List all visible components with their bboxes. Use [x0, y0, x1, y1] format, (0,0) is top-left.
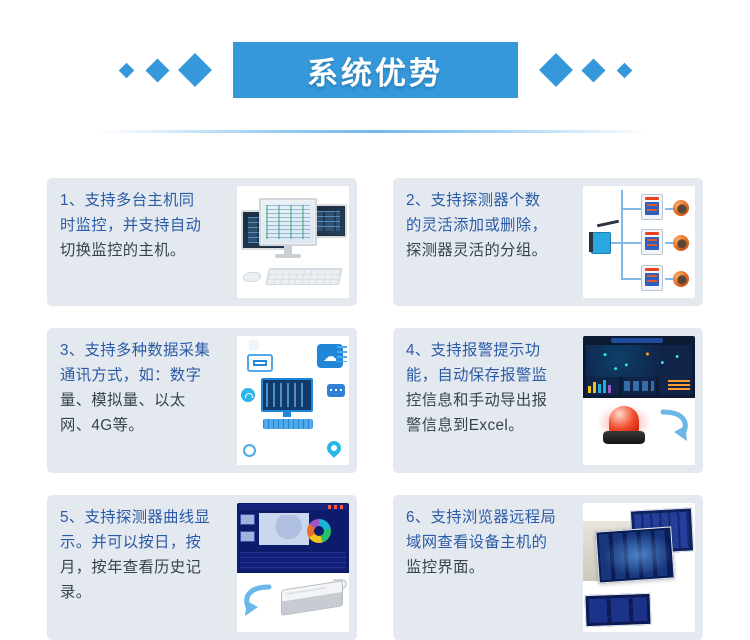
- advantage-line: 录。: [60, 580, 233, 605]
- alarm-beacon-icon: [609, 406, 639, 433]
- wire: [621, 242, 643, 244]
- remote-browser-screens-image: [583, 503, 695, 632]
- detector-network-diagram-image: [583, 186, 695, 298]
- advantage-text-3: 3、支持多种数据采集 通讯方式，如：数字 量、模拟量、以太 网、4G等。: [47, 328, 233, 473]
- advantage-line: 控信息和手动导出报: [406, 388, 579, 413]
- location-pin-icon: [324, 438, 344, 458]
- wire: [611, 242, 623, 244]
- alarm-dashboard: [583, 336, 695, 398]
- chat-bubble-icon: [327, 384, 345, 397]
- history-dashboard-harddrive-image: [237, 503, 349, 632]
- curved-arrow-icon: [239, 583, 275, 619]
- keyboard-icon: [265, 268, 343, 285]
- alarm-beacon-base: [603, 431, 645, 444]
- bar-chart-pane: [586, 377, 619, 395]
- advantage-line: 4、支持报警提示功: [406, 338, 579, 363]
- wire: [621, 208, 643, 210]
- advantage-line: 域网查看设备主机的: [406, 530, 579, 555]
- diamond-icon: [581, 58, 605, 82]
- gas-detector-icon: [673, 235, 689, 251]
- advantage-line: 月，按年查看历史记: [60, 555, 233, 580]
- controller-icon: [641, 194, 663, 220]
- page-header: 系统优势: [0, 30, 750, 110]
- antenna-icon: [597, 220, 619, 228]
- diamond-icon: [539, 53, 573, 87]
- monitor-base: [275, 254, 301, 258]
- advantage-line: 5、支持探测器曲线显: [60, 505, 233, 530]
- header-divider: [100, 130, 650, 133]
- advantage-line: 示。并可以按日，按: [60, 530, 233, 555]
- advantage-line: 1、支持多台主机同: [60, 188, 233, 213]
- advantage-line: 3、支持多种数据采集: [60, 338, 233, 363]
- orange-bars-pane: [659, 377, 692, 395]
- hard-drive-icon: [281, 580, 343, 616]
- monitor-icon: [261, 378, 313, 412]
- gas-detector-icon: [673, 271, 689, 287]
- monitor-icon: [259, 198, 317, 246]
- left-diamond-decoration: [121, 58, 207, 82]
- advantage-line: 量、模拟量、以太: [60, 388, 233, 413]
- advantage-text-4: 4、支持报警提示功 能，自动保存报警监 控信息和手动导出报 警信息到Excel。: [393, 328, 579, 473]
- gas-detector-icon: [673, 200, 689, 216]
- page-title-banner: 系统优势: [233, 42, 518, 98]
- wire: [621, 278, 643, 280]
- gear-icon: [243, 444, 256, 457]
- curved-arrow-icon: [657, 408, 693, 444]
- advantage-line: 警信息到Excel。: [406, 413, 579, 438]
- table-pane: [622, 377, 655, 395]
- advantages-grid: 1、支持多台主机同 时监控，并支持自动 切换监控的主机。 2、支持探测器个数 的…: [0, 178, 750, 640]
- advantage-card-2: 2、支持探测器个数 的灵活添加或删除， 探测器灵活的分组。: [393, 178, 703, 306]
- history-dashboard: [237, 503, 349, 573]
- advantage-line: 通讯方式，如：数字: [60, 363, 233, 388]
- diamond-icon: [145, 58, 169, 82]
- mouse-icon: [242, 272, 262, 282]
- advantage-line: 的灵活添加或删除，: [406, 213, 579, 238]
- right-diamond-decoration: [544, 58, 630, 82]
- message-card-icon: [247, 354, 273, 372]
- advantage-line: 监控界面。: [406, 555, 579, 580]
- diamond-icon: [118, 62, 134, 78]
- wire: [621, 208, 623, 280]
- multi-monitor-workstation-image: [237, 186, 349, 298]
- advantage-card-5: 5、支持探测器曲线显 示。并可以按日，按 月，按年查看历史记 录。: [47, 495, 357, 640]
- controller-icon: [641, 229, 663, 255]
- diamond-icon: [616, 62, 632, 78]
- advantage-card-4: 4、支持报警提示功 能，自动保存报警监 控信息和手动导出报 警信息到Excel。: [393, 328, 703, 473]
- keyboard-icon: [263, 419, 313, 429]
- checkerboard-pattern: [249, 340, 259, 350]
- map-panel: [259, 513, 309, 545]
- page-title: 系统优势: [307, 48, 443, 93]
- monitoring-screen: [584, 593, 651, 627]
- advantage-card-1: 1、支持多台主机同 时监控，并支持自动 切换监控的主机。: [47, 178, 357, 306]
- advantage-text-5: 5、支持探测器曲线显 示。并可以按日，按 月，按年查看历史记 录。: [47, 495, 233, 640]
- advantage-line: 2、支持探测器个数: [406, 188, 579, 213]
- advantage-line: 能，自动保存报警监: [406, 363, 579, 388]
- advantage-text-2: 2、支持探测器个数 的灵活添加或删除， 探测器灵活的分组。: [393, 178, 579, 306]
- gateway-icon: [591, 232, 611, 254]
- wifi-icon: [241, 388, 255, 402]
- controller-icon: [641, 265, 663, 291]
- advantage-line: 切换监控的主机。: [60, 238, 233, 263]
- data-table-panel: [240, 552, 346, 570]
- advantage-line: 探测器灵活的分组。: [406, 238, 579, 263]
- advantage-line: 时监控，并支持自动: [60, 213, 233, 238]
- advantage-text-6: 6、支持浏览器远程局 域网查看设备主机的 监控界面。: [393, 495, 579, 640]
- diamond-icon: [178, 53, 212, 87]
- advantage-line: 网、4G等。: [60, 413, 233, 438]
- advantage-card-3: 3、支持多种数据采集 通讯方式，如：数字 量、模拟量、以太 网、4G等。: [47, 328, 357, 473]
- monitor-stand: [283, 412, 291, 417]
- advantage-text-1: 1、支持多台主机同 时监控，并支持自动 切换监控的主机。: [47, 178, 233, 306]
- cloud-data-collection-image: [237, 336, 349, 465]
- advantage-card-6: 6、支持浏览器远程局 域网查看设备主机的 监控界面。: [393, 495, 703, 640]
- alarm-dashboard-beacon-image: [583, 336, 695, 465]
- advantage-line: 6、支持浏览器远程局: [406, 505, 579, 530]
- monitoring-screen: [595, 526, 674, 583]
- list-lines-icon: [337, 346, 347, 362]
- donut-chart: [307, 519, 331, 543]
